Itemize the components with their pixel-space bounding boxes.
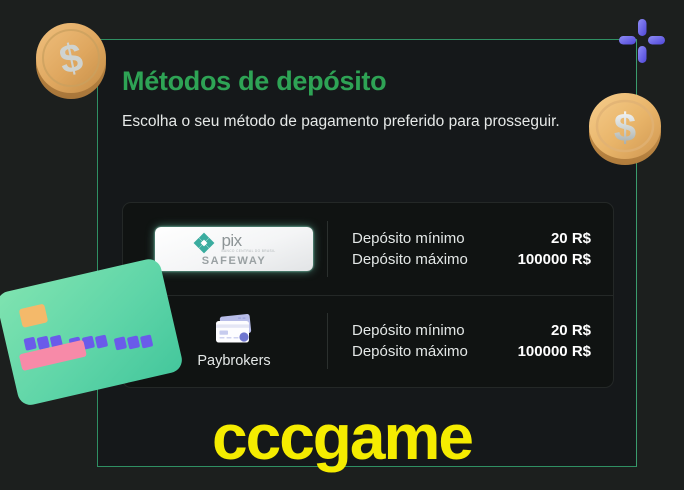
pix-wordmark: pix [221, 232, 241, 249]
page-canvas: Métodos de depósito Escolha o seu método… [0, 0, 684, 490]
credit-card-icon [211, 313, 257, 347]
limit-value: 100000 R$ [518, 343, 591, 360]
pix-diamond-icon [192, 231, 216, 255]
limit-line-max-paybrokers: Depósito máximo 100000 R$ [352, 343, 591, 360]
limit-line-min-paybrokers: Depósito mínimo 20 R$ [352, 322, 591, 339]
brand-cell-pix[interactable]: pix BANCO CENTRAL DO BRASIL SAFEWAY [141, 227, 327, 271]
cccgame-watermark: cccgame [0, 405, 684, 469]
brand-name-paybrokers: Paybrokers [197, 353, 270, 369]
limits-cell-paybrokers: Depósito mínimo 20 R$ Depósito máximo 10… [328, 322, 605, 360]
limit-label: Depósito máximo [352, 343, 468, 360]
limit-value: 20 R$ [551, 230, 591, 247]
limit-label: Depósito máximo [352, 251, 468, 268]
payment-method-row-pix[interactable]: pix BANCO CENTRAL DO BRASIL SAFEWAY Depó… [123, 203, 613, 295]
limit-label: Depósito mínimo [352, 230, 465, 247]
limit-value: 100000 R$ [518, 251, 591, 268]
pix-logo-subtext: BANCO CENTRAL DO BRASIL [221, 250, 275, 253]
svg-text:$: $ [56, 35, 87, 83]
page-subtitle: Escolha o seu método de pagamento prefer… [122, 111, 562, 133]
pix-safeway-logo: pix BANCO CENTRAL DO BRASIL SAFEWAY [155, 227, 313, 271]
payment-methods-list: pix BANCO CENTRAL DO BRASIL SAFEWAY Depó… [122, 202, 614, 388]
brand-cell-paybrokers[interactable]: Paybrokers [141, 313, 327, 369]
limit-line-min-pix: Depósito mínimo 20 R$ [352, 230, 591, 247]
payment-method-row-paybrokers[interactable]: Paybrokers Depósito mínimo 20 R$ Depósit… [123, 295, 613, 387]
limit-label: Depósito mínimo [352, 322, 465, 339]
pix-logo-top: pix BANCO CENTRAL DO BRASIL [192, 231, 275, 255]
limit-value: 20 R$ [551, 322, 591, 339]
limits-cell-pix: Depósito mínimo 20 R$ Depósito máximo 10… [328, 230, 605, 268]
safeway-wordmark: SAFEWAY [202, 256, 267, 267]
limit-line-max-pix: Depósito máximo 100000 R$ [352, 251, 591, 268]
page-title: Métodos de depósito [122, 67, 612, 97]
